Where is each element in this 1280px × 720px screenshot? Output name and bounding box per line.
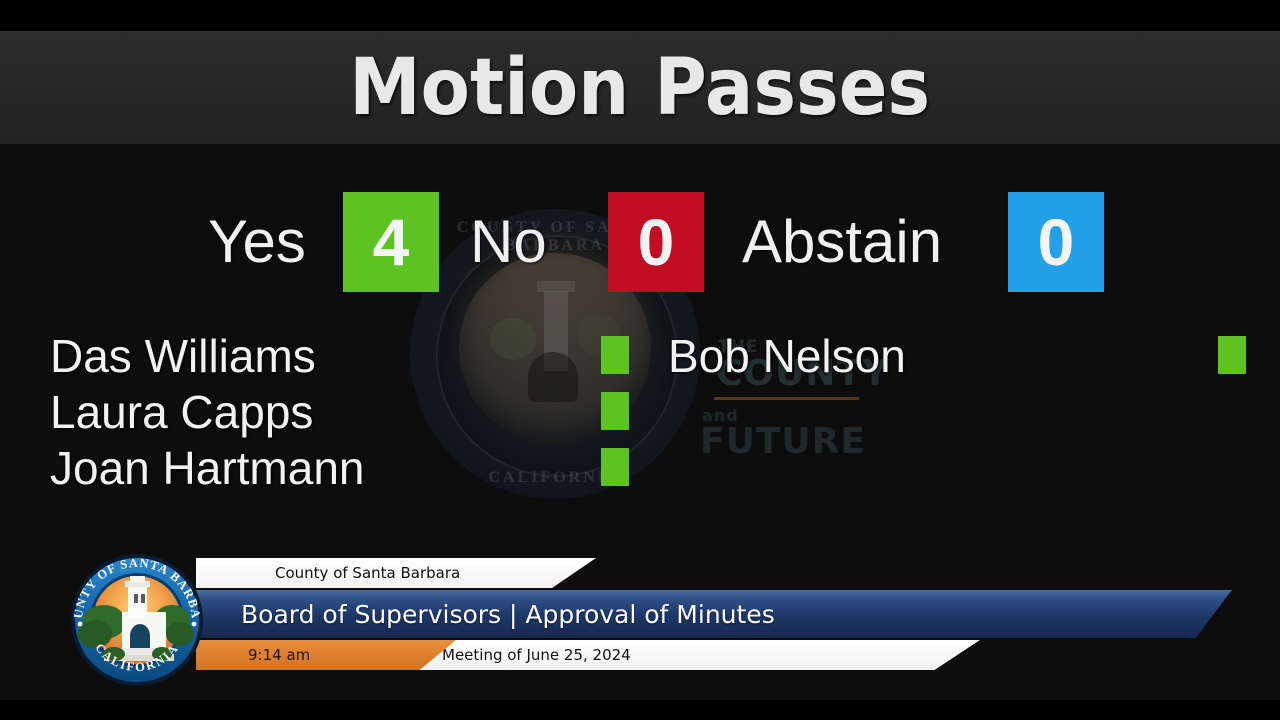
yes-count-box: 4 bbox=[343, 192, 439, 292]
broadcast-vote-screen: COUNTY OF SANTA BARBARA CALIFORNIA THE C… bbox=[0, 0, 1280, 720]
member-name-left-1: Das Williams bbox=[50, 328, 316, 384]
yes-label: Yes bbox=[208, 192, 306, 292]
vote-chip-left-1 bbox=[601, 336, 629, 374]
no-count-box: 0 bbox=[608, 192, 704, 292]
vote-chip-right-1 bbox=[1218, 336, 1246, 374]
vote-chip-left-3 bbox=[601, 448, 629, 486]
banner-time-strip: 9:14 am bbox=[196, 640, 456, 670]
letterbox-top bbox=[0, 0, 1280, 31]
letterbox-bottom bbox=[0, 700, 1280, 720]
vote-tally-row: Yes 4 No 0 Abstain 0 bbox=[0, 192, 1280, 292]
vote-chip-left-2 bbox=[601, 392, 629, 430]
banner-title-strip: Board of Supervisors | Approval of Minut… bbox=[196, 590, 1232, 638]
member-vote-list: Das Williams Laura Capps Joan Hartmann B… bbox=[0, 320, 1280, 510]
county-seal-svg: COUNTY OF SANTA BARBARA CALIFORNIA bbox=[64, 550, 210, 688]
member-name-left-2: Laura Capps bbox=[50, 384, 313, 440]
banner-organization-strip: County of Santa Barbara bbox=[196, 558, 596, 588]
title-band: Motion Passes bbox=[0, 31, 1280, 145]
lower-third-banner: Meeting of June 25, 2024 County of Santa… bbox=[0, 545, 1280, 690]
county-seal-logo: COUNTY OF SANTA BARBARA CALIFORNIA bbox=[64, 550, 210, 688]
abstain-count-box: 0 bbox=[1008, 192, 1104, 292]
abstain-label: Abstain bbox=[742, 192, 942, 292]
page-title: Motion Passes bbox=[350, 49, 931, 127]
meeting-title: Board of Supervisors | Approval of Minut… bbox=[241, 600, 775, 629]
member-name-right-1: Bob Nelson bbox=[668, 328, 906, 384]
organization-name: County of Santa Barbara bbox=[275, 564, 460, 582]
meeting-time: 9:14 am bbox=[248, 646, 310, 664]
member-name-left-3: Joan Hartmann bbox=[50, 440, 365, 496]
meeting-date: Meeting of June 25, 2024 bbox=[442, 646, 631, 664]
no-label: No bbox=[470, 192, 547, 292]
